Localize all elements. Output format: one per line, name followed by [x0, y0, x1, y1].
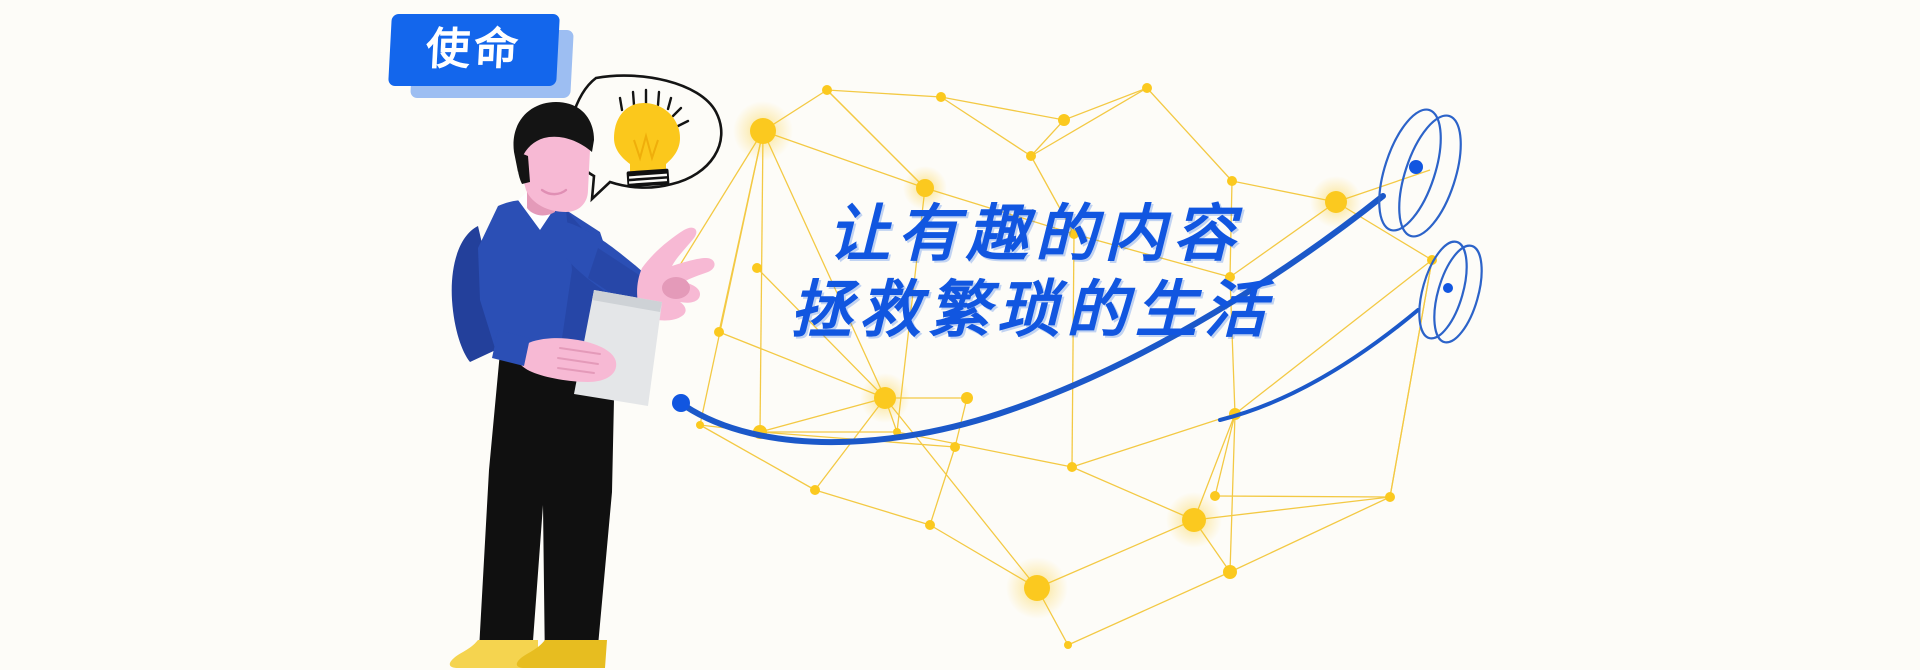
- badge-layer: 使命: [0, 0, 1920, 670]
- badge-label: 使命: [388, 14, 560, 86]
- mission-banner: 让有趣的内容 拯救繁琐的生活 使命: [0, 0, 1920, 670]
- mission-badge: 使命: [390, 14, 575, 99]
